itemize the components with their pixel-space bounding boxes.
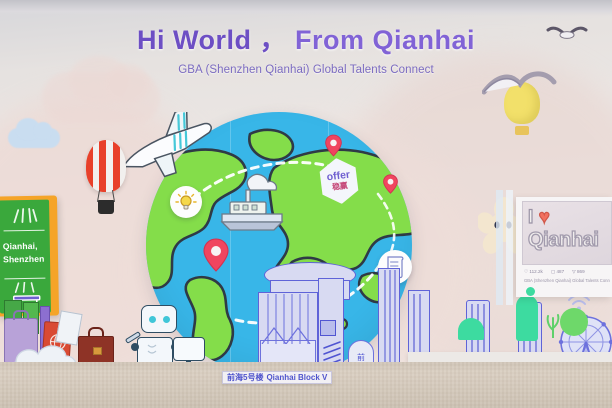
building-left-stripes [260,294,318,344]
social-post-caption: GBA (Shenzhen Qianhai) Global Talents Co… [524,278,610,283]
pin-asia [383,174,398,194]
signboard-divider-bottom [4,278,45,280]
signboard-green-face: Qianhai, Shenzhen [0,200,51,314]
wall-top-shadow [0,0,612,16]
signboard-line-2: Shenzhen [3,253,48,267]
bush-teal-large [516,295,538,341]
signboard-line-1: Qianhai, [3,240,48,254]
event-backdrop-photo: Hi World ， From Qianhai GBA (Shenzhen Qi… [0,0,612,408]
hot-air-balloon-red [86,140,126,216]
stage-step-right [408,352,612,362]
seagull-large [482,62,558,102]
title-part-1: Hi World ， [137,25,287,55]
i-heart-line: I ♥ [528,208,550,227]
signboard-divider-top [4,230,45,232]
stat-likes[interactable]: ♡ 112.2k [524,269,543,275]
balloon-stripe [86,140,93,192]
title-part-2: From Qianhai [295,25,475,55]
social-post-panel: I ♥ Qianhai ♡ 112.2k ▢ 487 ▽ 869 GBA (Sh… [516,197,612,297]
robot-eye-left [149,316,156,323]
social-avatar [526,287,535,296]
panel-backing-strip-b [506,190,513,305]
balloon-red-basket [98,200,114,214]
banner-text-en: Qianhai Block V [266,373,327,382]
balloon-red-envelope [86,140,126,192]
qianhai-word: Qianhai [528,230,599,250]
floor-texture [0,362,612,408]
signboard-text: Qianhai, Shenzhen [3,240,48,267]
robot-chest-detail [145,343,165,359]
idea-bulb-badge [170,186,202,218]
bottom-banner-label: 前海5号楼 Qianhai Block V [222,371,332,384]
social-stats-row[interactable]: ♡ 112.2k ▢ 487 ▽ 869 [524,269,585,275]
page-title: Hi World ， From Qianhai [0,18,612,57]
social-post-image: I ♥ Qianhai [522,201,612,265]
balloon-stripe [99,140,106,192]
grass-tuft-icon [544,312,562,338]
balloon-stripe [113,140,120,192]
panel-backing-strip-a [496,190,503,305]
pin-europe [325,134,342,157]
briefcase-handle [88,327,104,337]
bush-green-round [560,308,588,336]
signboard-rays-top [10,208,38,224]
suitcase-handle [13,310,29,320]
bush-teal-small [458,318,484,340]
lightbulb-icon [174,190,198,214]
pin-americas [203,238,229,272]
heart-icon: ♥ [539,208,550,227]
robot-eye-right [163,316,170,323]
robot-monitor-screen [173,337,205,361]
stat-shares[interactable]: ▽ 869 [572,269,584,275]
letter-i: I [528,207,533,228]
airplane-prop [112,112,224,184]
briefcase-clasp [93,347,102,355]
seagull-small [546,22,588,44]
venue-floor [0,362,612,408]
stat-comments[interactable]: ▢ 487 [551,269,564,275]
banner-text-cn: 前海5号楼 [227,372,263,383]
robot-head [141,305,177,333]
robot-shoulder-left [131,343,139,351]
blue-cloud-bump-b [34,122,52,139]
qianhai-signboard: Qianhai, Shenzhen [0,195,59,316]
offer-text-cn: 稳赢 [332,182,348,192]
balloon-yellow-basket [515,126,529,135]
